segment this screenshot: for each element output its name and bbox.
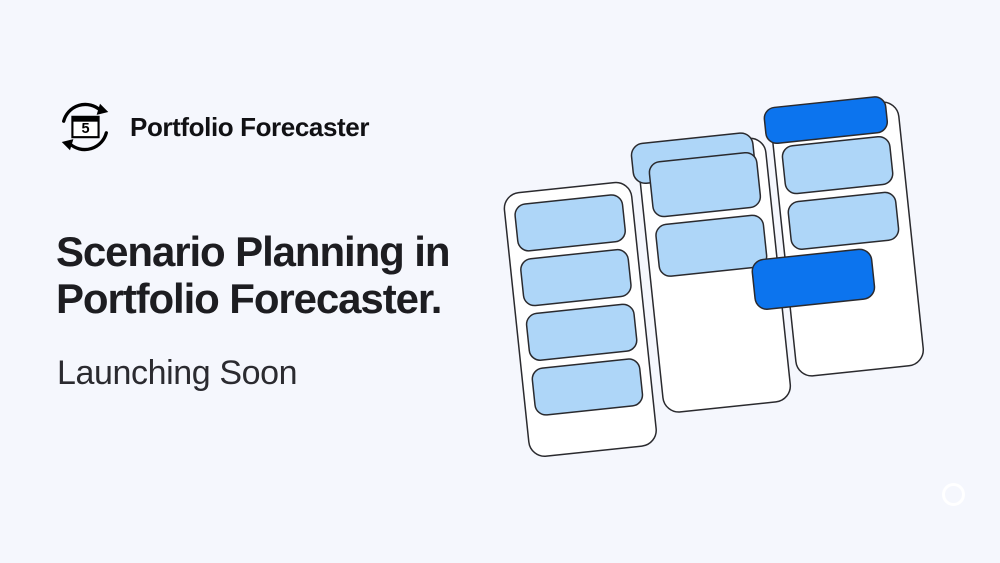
column-three	[763, 95, 925, 379]
page-title: Scenario Planning in Portfolio Forecaste…	[56, 228, 526, 323]
slide-canvas: 5 Portfolio Forecaster Scenario Planning…	[0, 0, 1000, 563]
column-one	[503, 181, 658, 458]
brand-lockup: 5 Portfolio Forecaster	[54, 96, 369, 158]
card-2-1	[648, 152, 761, 218]
subtitle: Launching Soon	[57, 353, 297, 394]
brand-name: Portfolio Forecaster	[130, 114, 369, 140]
headline-line-2: Portfolio Forecaster.	[56, 275, 526, 322]
card-3-1	[781, 136, 893, 195]
calendar-day-number: 5	[81, 121, 89, 137]
calendar-refresh-icon: 5	[54, 96, 116, 158]
headline-line-1: Scenario Planning in	[56, 228, 526, 275]
card-3-2	[787, 191, 899, 250]
decorative-ring	[942, 483, 965, 506]
kanban-board-illustration	[495, 105, 965, 455]
card-2-2	[655, 214, 768, 277]
